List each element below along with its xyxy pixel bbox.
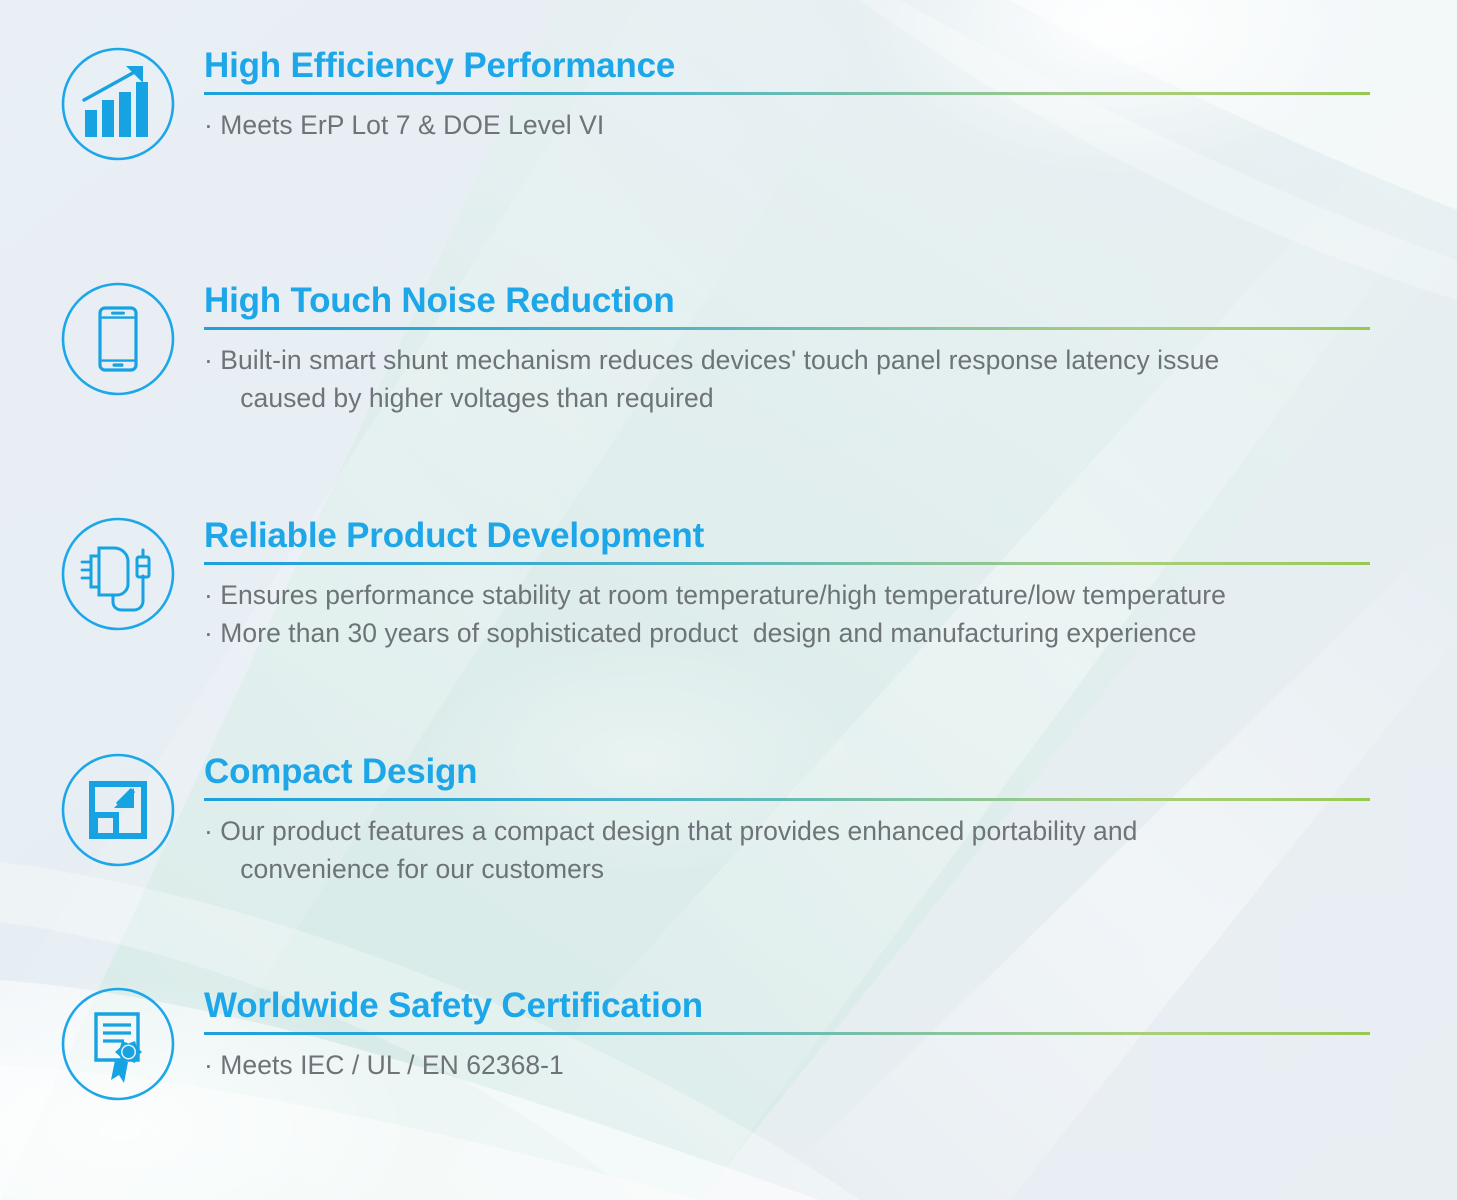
feature-title: High Efficiency Performance	[204, 46, 1457, 86]
feature-icon-wrap	[53, 44, 183, 174]
feature-divider	[204, 798, 1370, 801]
feature-divider	[204, 92, 1370, 95]
feature-divider	[204, 562, 1370, 565]
feature-item-high-touch-noise-reduction: High Touch Noise Reduction · Built-in sm…	[0, 279, 1457, 418]
feature-content: High Touch Noise Reduction · Built-in sm…	[204, 279, 1457, 418]
feature-bullet: · Our product features a compact design …	[204, 813, 1457, 888]
feature-bullet: · Meets IEC / UL / EN 62368-1	[204, 1047, 1457, 1085]
feature-bullet: · More than 30 years of sophisticated pr…	[204, 615, 1457, 653]
feature-bullets: · Our product features a compact design …	[204, 813, 1457, 888]
feature-icon-wrap	[53, 750, 183, 880]
feature-bullet: · Built-in smart shunt mechanism reduces…	[204, 342, 1457, 417]
smartphone-icon	[58, 279, 178, 399]
feature-title: High Touch Noise Reduction	[204, 281, 1457, 321]
feature-icon-wrap	[53, 514, 183, 644]
feature-bullets: · Meets ErP Lot 7 & DOE Level VI	[204, 107, 1457, 145]
feature-list: High Efficiency Performance · Meets ErP …	[0, 0, 1457, 1200]
feature-content: Worldwide Safety Certification · Meets I…	[204, 984, 1457, 1085]
feature-bullet: · Ensures performance stability at room …	[204, 577, 1457, 615]
feature-item-high-efficiency-performance: High Efficiency Performance · Meets ErP …	[0, 44, 1457, 174]
feature-bullets: · Ensures performance stability at room …	[204, 577, 1457, 652]
feature-item-reliable-product-development: Reliable Product Development · Ensures p…	[0, 514, 1457, 653]
certificate-seal-icon	[58, 984, 178, 1104]
power-adapter-icon	[58, 514, 178, 634]
feature-icon-wrap	[53, 984, 183, 1114]
feature-divider	[204, 1032, 1370, 1035]
feature-bullets: · Built-in smart shunt mechanism reduces…	[204, 342, 1457, 417]
feature-item-worldwide-safety-certification: Worldwide Safety Certification · Meets I…	[0, 984, 1457, 1114]
feature-divider	[204, 327, 1370, 330]
feature-bullet: · Meets ErP Lot 7 & DOE Level VI	[204, 107, 1457, 145]
feature-content: Reliable Product Development · Ensures p…	[204, 514, 1457, 653]
feature-content: Compact Design · Our product features a …	[204, 750, 1457, 889]
feature-title: Reliable Product Development	[204, 516, 1457, 556]
feature-item-compact-design: Compact Design · Our product features a …	[0, 750, 1457, 889]
feature-bullets: · Meets IEC / UL / EN 62368-1	[204, 1047, 1457, 1085]
feature-title: Compact Design	[204, 752, 1457, 792]
feature-title: Worldwide Safety Certification	[204, 986, 1457, 1026]
bar-chart-growth-icon	[58, 44, 178, 164]
feature-icon-wrap	[53, 279, 183, 409]
feature-content: High Efficiency Performance · Meets ErP …	[204, 44, 1457, 145]
compact-resize-icon	[58, 750, 178, 870]
